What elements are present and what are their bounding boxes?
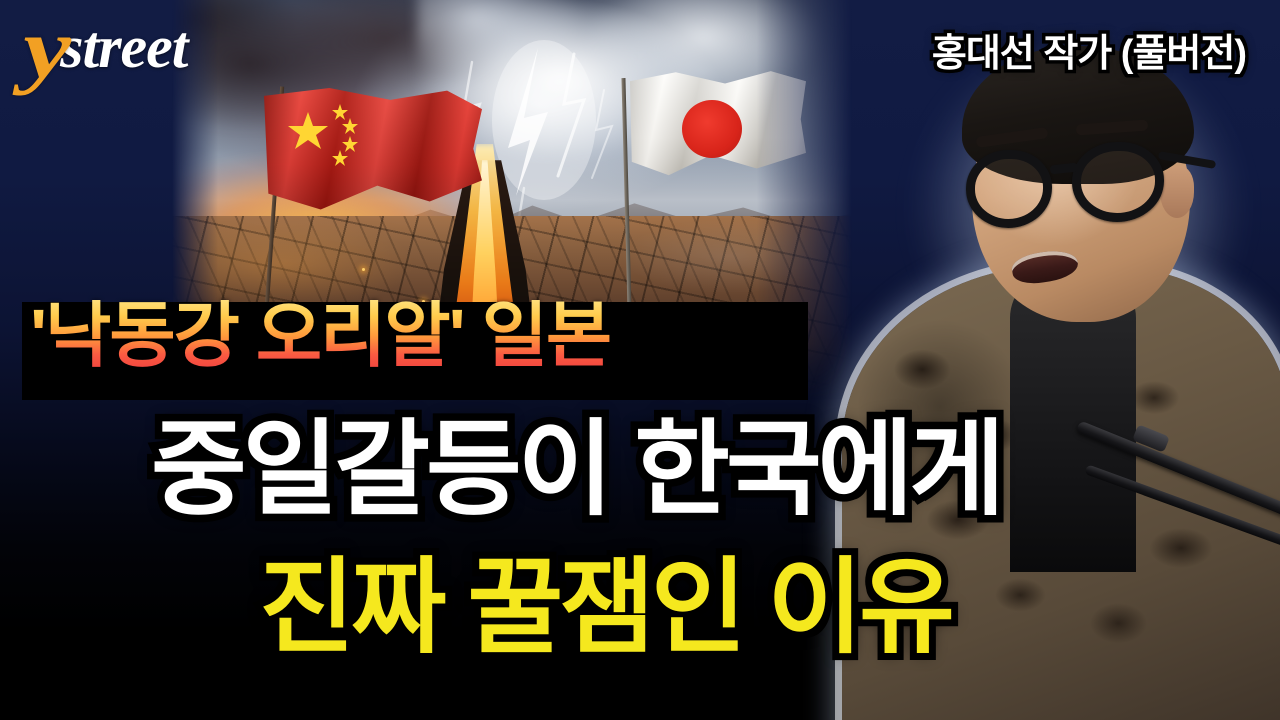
headline-line-3: 진짜 꿀잼인 이유 — [0, 556, 1280, 660]
ystreet-logo[interactable]: y street — [28, 12, 187, 82]
china-flag-stars-icon — [264, 88, 482, 220]
japan-flag-sun-disc — [682, 100, 742, 158]
headline-line-1: '낙동강 오리알' 일본 — [30, 300, 610, 372]
thumbnail-canvas: y street 홍대선 작가 (풀버전) '낙동강 오리알' 일본 중일갈등이… — [0, 0, 1280, 720]
logo-y-glyph: y — [23, 10, 71, 87]
headline-line-2: 중일갈등이 한국에게 — [0, 418, 1280, 522]
guest-name-label: 홍대선 작가 (풀버전) — [932, 22, 1246, 77]
glasses-lens-right — [1072, 142, 1164, 222]
logo-wordmark: street — [60, 17, 187, 77]
ember-spark — [362, 268, 365, 271]
glasses-lens-left — [966, 150, 1052, 228]
glasses-icon — [960, 138, 1204, 242]
